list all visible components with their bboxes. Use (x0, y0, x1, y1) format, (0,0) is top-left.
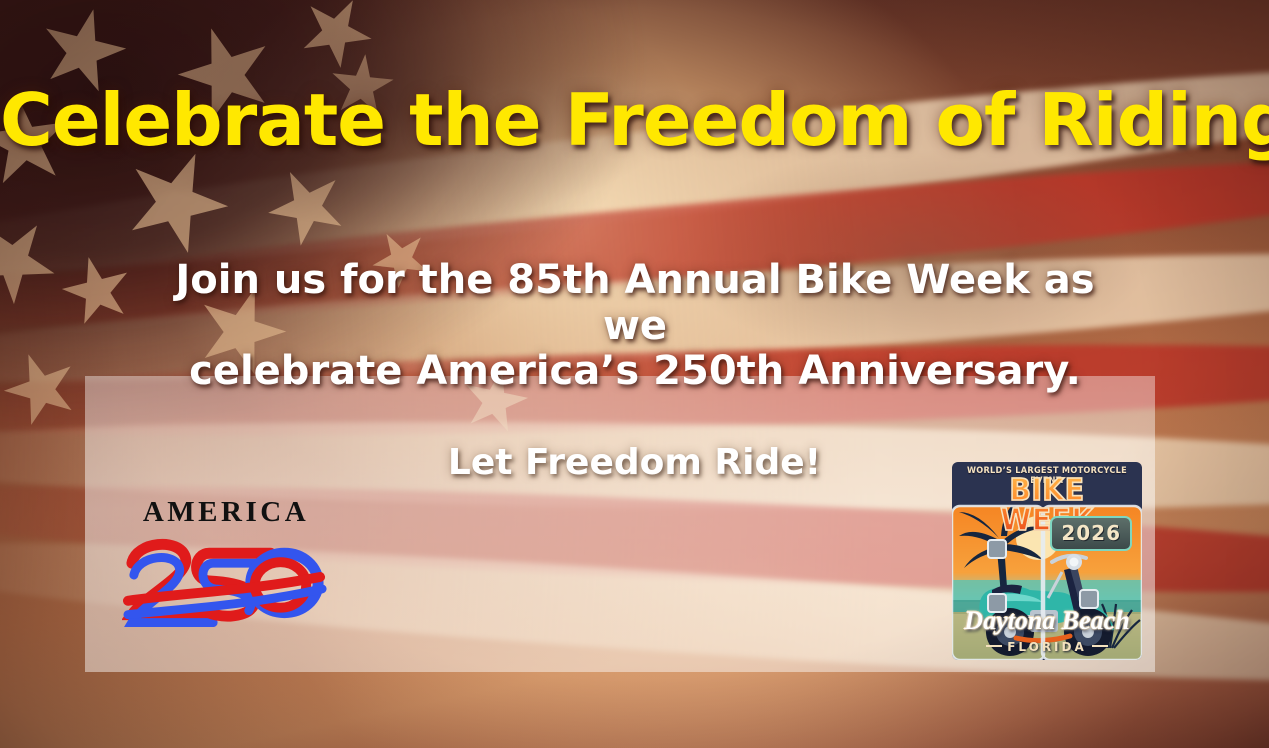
america-wordmark: AMERICA (122, 498, 330, 527)
badge-state-dash-right (1092, 645, 1108, 647)
bike-week-badge: WORLD’S LARGEST MOTORCYCLE EVENT. BIKE W… (952, 462, 1142, 660)
subheadline: Join us for the 85th Annual Bike Week as… (140, 258, 1130, 395)
subheadline-line-2: celebrate America’s 250th Anniversary. (140, 349, 1130, 395)
badge-year: 2026 (1050, 516, 1132, 551)
badge-state: FLORIDA (952, 640, 1142, 654)
america-250-ribbon-numerals (122, 531, 330, 632)
ribbon-250-svg (122, 531, 330, 627)
subheadline-line-1: Join us for the 85th Annual Bike Week as… (140, 258, 1130, 349)
headline: Celebrate the Freedom of Riding (0, 78, 1269, 162)
badge-state-label: FLORIDA (1007, 640, 1087, 654)
america-250-logo: AMERICA (122, 498, 330, 628)
promotional-banner: Celebrate the Freedom of Riding Join us … (0, 0, 1269, 748)
badge-state-dash-left (986, 645, 1002, 647)
badge-city: Daytona Beach (952, 606, 1142, 636)
